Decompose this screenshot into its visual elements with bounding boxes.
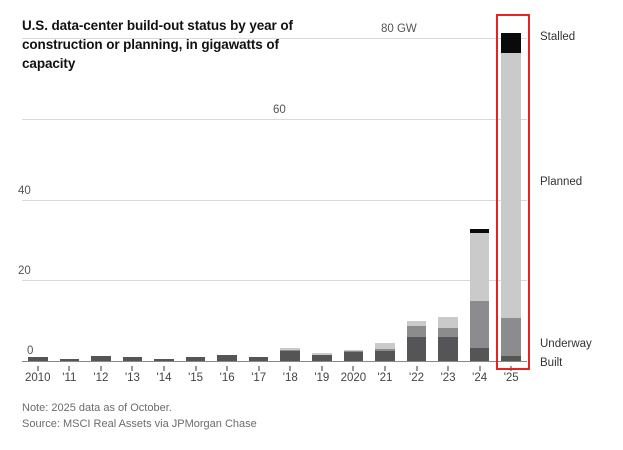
chart-note: Note: 2025 data as of October.: [22, 400, 172, 417]
legend-label-stalled: Stalled: [540, 31, 575, 43]
x-tick-label-2010: 2010: [25, 372, 51, 384]
x-tick: [68, 366, 70, 371]
x-tick: [100, 366, 102, 371]
bar-segment-underway: [407, 326, 427, 336]
bar-segment-built: [470, 348, 490, 361]
bar-19[interactable]: [312, 353, 332, 361]
bar-2020[interactable]: [344, 350, 364, 361]
bar-segment-planned: [438, 317, 458, 327]
x-tick: [384, 366, 386, 371]
x-tick-label-19: '19: [314, 372, 329, 384]
legend-label-underway: Underway: [540, 338, 592, 350]
x-tick: [163, 366, 165, 371]
x-tick: [510, 366, 512, 371]
bar-23[interactable]: [438, 317, 458, 361]
footer-divider: [22, 392, 600, 393]
bar-25[interactable]: [501, 33, 521, 361]
x-tick: [226, 366, 228, 371]
bar-18[interactable]: [280, 348, 300, 361]
bar-segment-built: [438, 337, 458, 361]
x-tick: [37, 366, 39, 371]
bar-21[interactable]: [375, 343, 395, 361]
bar-22[interactable]: [407, 321, 427, 361]
x-tick-label-16: '16: [220, 372, 235, 384]
chart-source: Source: MSCI Real Assets via JPMorgan Ch…: [22, 416, 257, 433]
bar-segment-built: [344, 352, 364, 361]
x-tick-label-25: '25: [504, 372, 519, 384]
x-tick: [416, 366, 418, 371]
x-tick-label-12: '12: [93, 372, 108, 384]
x-axis-baseline: [22, 361, 527, 362]
bar-segment-underway: [438, 328, 458, 337]
x-tick-label-17: '17: [251, 372, 266, 384]
legend-label-planned: Planned: [540, 176, 582, 188]
bar-segment-built: [407, 337, 427, 361]
chart-root: U.S. data-center build-out status by yea…: [0, 0, 623, 450]
x-tick-label-18: '18: [283, 372, 298, 384]
bar-segment-planned: [501, 53, 521, 318]
bar-segment-underway: [470, 301, 490, 348]
plot-area: 80 GW6040200 2010'11'12'13'14'15'16'17'1…: [0, 0, 623, 450]
x-tick: [289, 366, 291, 371]
bar-segment-built: [375, 351, 395, 361]
bar-segment-stalled: [501, 33, 521, 53]
x-tick: [321, 366, 323, 371]
bar-24[interactable]: [470, 229, 490, 361]
x-tick: [352, 366, 354, 371]
x-tick-label-23: '23: [441, 372, 456, 384]
x-tick-label-13: '13: [125, 372, 140, 384]
x-tick: [447, 366, 449, 371]
x-tick-label-24: '24: [472, 372, 487, 384]
bar-series: [22, 0, 527, 362]
legend-label-built: Built: [540, 357, 562, 369]
x-tick-label-15: '15: [188, 372, 203, 384]
x-tick-label-22: '22: [409, 372, 424, 384]
x-tick: [479, 366, 481, 371]
x-tick-label-21: '21: [377, 372, 392, 384]
x-tick-label-2020: 2020: [341, 372, 367, 384]
x-tick-label-14: '14: [157, 372, 172, 384]
bar-segment-planned: [470, 233, 490, 302]
bar-segment-underway: [501, 318, 521, 356]
x-tick: [131, 366, 133, 371]
x-tick-label-11: '11: [62, 372, 76, 384]
x-tick: [258, 366, 260, 371]
x-tick: [195, 366, 197, 371]
bar-segment-built: [280, 351, 300, 361]
